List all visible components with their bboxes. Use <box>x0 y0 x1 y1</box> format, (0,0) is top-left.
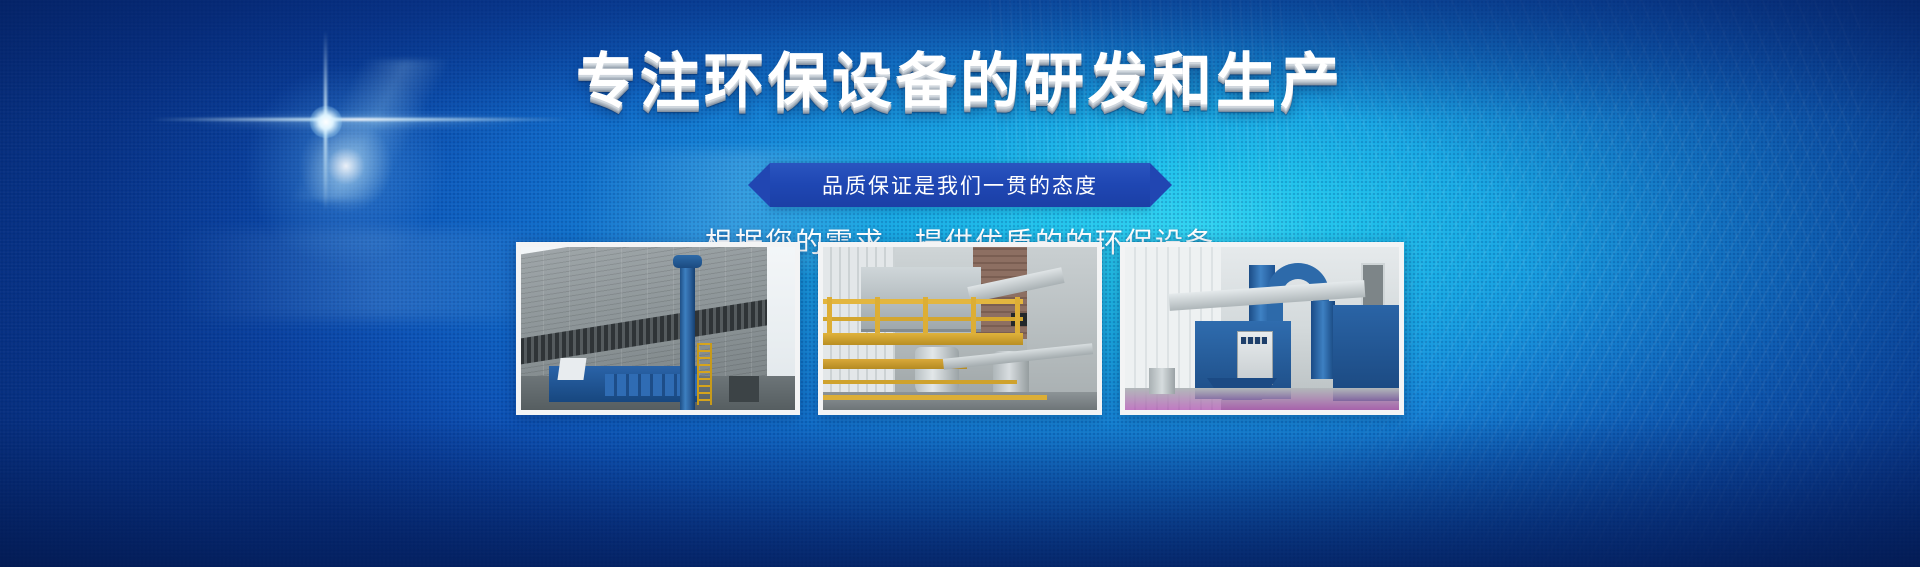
hero-banner: 专注环保设备的研发和生产 品质保证是我们一贯的态度 根据您的需求，提供优质的的环… <box>0 0 1920 567</box>
photo-2-scene <box>823 247 1097 410</box>
banner-ribbon-wrapper: 品质保证是我们一贯的态度 <box>0 163 1920 207</box>
photo-thumbnail-row <box>0 242 1920 415</box>
photo-3-scene <box>1125 247 1399 410</box>
banner-ribbon: 品质保证是我们一贯的态度 <box>770 163 1150 207</box>
photo-thumbnail-2[interactable] <box>818 242 1102 415</box>
photo-thumbnail-3[interactable] <box>1120 242 1404 415</box>
banner-headline: 专注环保设备的研发和生产 <box>0 52 1920 112</box>
banner-ribbon-text: 品质保证是我们一贯的态度 <box>822 170 1098 200</box>
photo-thumbnail-1[interactable] <box>516 242 800 415</box>
photo-1-scene <box>521 247 795 410</box>
